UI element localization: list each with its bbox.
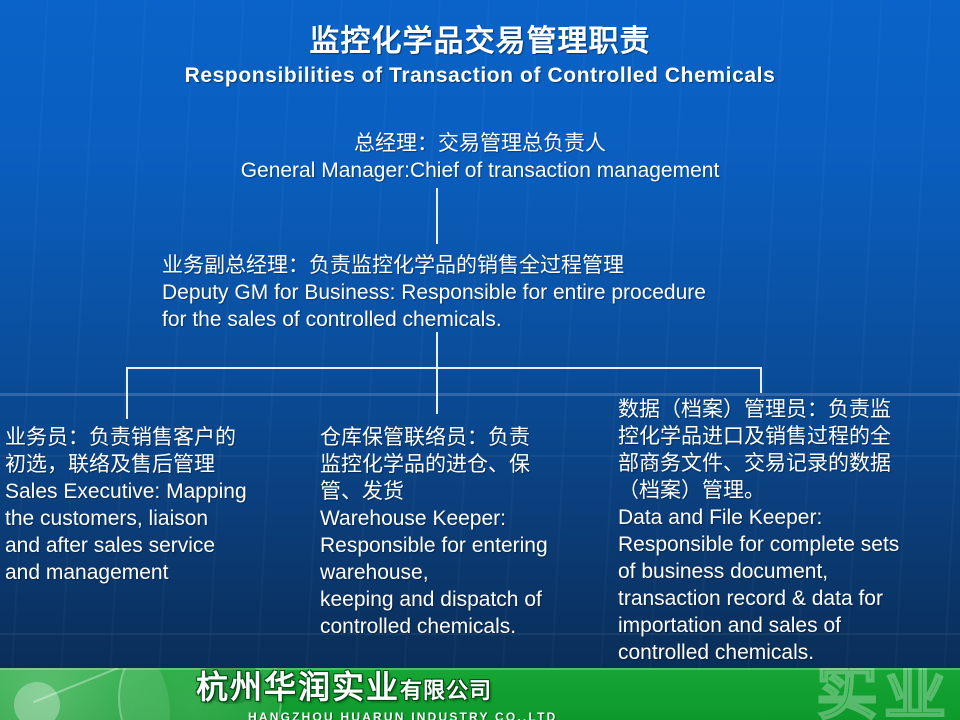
- connector-vertical-left-branch: [126, 367, 128, 419]
- slide-canvas: 监控化学品交易管理职责 Responsibilities of Transact…: [0, 0, 960, 720]
- org-node-general-manager: 总经理：交易管理总负责人 General Manager:Chief of tr…: [0, 130, 960, 184]
- sales-executive-label-english: Sales Executive: Mapping the customers, …: [5, 478, 305, 586]
- decorative-diagonal-line: [33, 668, 119, 703]
- decorative-circle-large-icon: [0, 668, 170, 720]
- connector-vertical-gm-to-deputy: [436, 188, 438, 244]
- deputy-gm-label-english: Deputy GM for Business: Responsible for …: [162, 279, 862, 333]
- org-node-warehouse-keeper: 仓库保管联络员：负责 监控化学品的进仓、保 管、发货 Warehouse Kee…: [320, 424, 610, 640]
- footer-banner: 实业 杭州华润实业有限公司 HANGZHOU HUARUN INDUSTRY C…: [0, 668, 960, 720]
- company-watermark-text: 实业: [816, 668, 952, 720]
- company-name-chinese: 杭州华润实业有限公司: [196, 670, 756, 708]
- title-chinese: 监控化学品交易管理职责: [0, 24, 960, 60]
- connector-vertical-right-branch: [760, 367, 762, 393]
- data-file-keeper-label-english: Data and File Keeper: Responsible for co…: [618, 504, 958, 666]
- company-name-english: HANGZHOU HUARUN INDUSTRY CO.,LTD: [196, 709, 756, 720]
- connector-vertical-deputy-to-bus: [436, 332, 438, 414]
- sales-executive-label-chinese: 业务员：负责销售客户的 初选，联络及售后管理: [5, 424, 305, 478]
- title-english: Responsibilities of Transaction of Contr…: [0, 62, 960, 90]
- org-node-deputy-gm: 业务副总经理：负责监控化学品的销售全过程管理 Deputy GM for Bus…: [162, 252, 862, 333]
- org-node-data-file-keeper: 数据（档案）管理员：负责监 控化学品进口及销售过程的全 部商务文件、交易记录的数…: [618, 396, 958, 666]
- company-name-chinese-main: 杭州华润实业: [196, 669, 400, 705]
- deputy-gm-label-chinese: 业务副总经理：负责监控化学品的销售全过程管理: [162, 252, 862, 279]
- data-file-keeper-label-chinese: 数据（档案）管理员：负责监 控化学品进口及销售过程的全 部商务文件、交易记录的数…: [618, 396, 958, 504]
- connector-horizontal-bus: [126, 367, 762, 369]
- org-node-sales-executive: 业务员：负责销售客户的 初选，联络及售后管理 Sales Executive: …: [5, 424, 305, 586]
- warehouse-keeper-label-english: Warehouse Keeper: Responsible for enteri…: [320, 505, 610, 640]
- company-logo: 杭州华润实业有限公司 HANGZHOU HUARUN INDUSTRY CO.,…: [196, 670, 756, 720]
- warehouse-keeper-label-chinese: 仓库保管联络员：负责 监控化学品的进仓、保 管、发货: [320, 424, 610, 505]
- gm-label-english: General Manager:Chief of transaction man…: [0, 157, 960, 184]
- page-title: 监控化学品交易管理职责 Responsibilities of Transact…: [0, 24, 960, 90]
- company-name-chinese-suffix: 有限公司: [400, 678, 492, 703]
- gm-label-chinese: 总经理：交易管理总负责人: [0, 130, 960, 157]
